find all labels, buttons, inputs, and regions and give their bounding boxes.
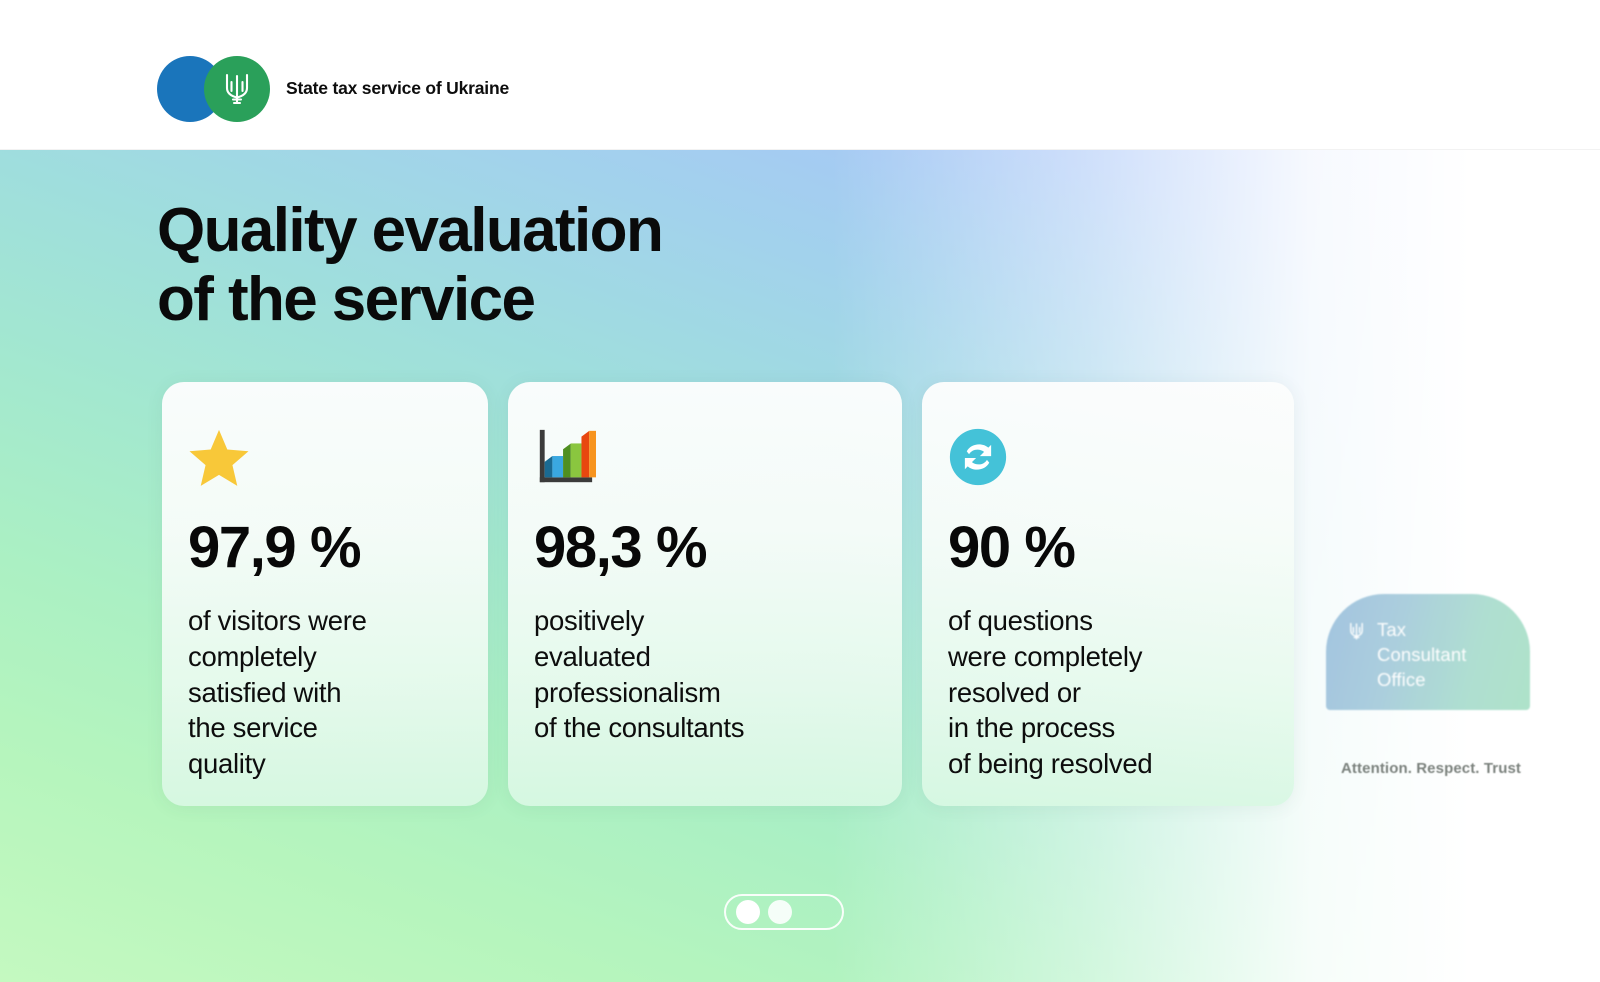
- pager-dot-1[interactable]: [736, 900, 760, 924]
- logo-green-circle-icon: [204, 56, 270, 122]
- stat-description: positively evaluated professionalism of …: [534, 603, 877, 746]
- stat-card-satisfaction[interactable]: 97,9 % of visitors were completely satis…: [162, 382, 488, 806]
- star-icon: [188, 428, 250, 487]
- pager-dot-2[interactable]: [768, 900, 792, 924]
- logo-text: State tax service of Ukraine: [286, 77, 509, 100]
- logo-marks: [157, 56, 270, 122]
- stat-value: 98,3 %: [534, 519, 877, 577]
- slide-root: State tax service of Ukraine Quality eva…: [0, 0, 1600, 982]
- stat-value: 90 %: [948, 519, 1269, 577]
- card-icon-slot: [188, 429, 463, 485]
- carousel-pager[interactable]: [724, 894, 844, 930]
- page-title: Quality evaluation of the service: [157, 196, 662, 335]
- stat-card-professionalism[interactable]: 98,3 % positively evaluated professional…: [508, 382, 902, 806]
- refresh-cycle-icon: [948, 427, 1008, 487]
- stat-description: of visitors were completely satisfied wi…: [188, 603, 463, 782]
- header-bar: State tax service of Ukraine: [0, 0, 1600, 150]
- stat-description: of questions were completely resolved or…: [948, 603, 1269, 782]
- stats-card-row: 97,9 % of visitors were completely satis…: [162, 382, 1294, 806]
- badge-text: Tax Consultant Office: [1377, 618, 1466, 693]
- stat-card-resolution[interactable]: 90 % of questions were completely resolv…: [922, 382, 1294, 806]
- ukraine-trident-icon: [222, 71, 252, 107]
- card-icon-slot: [534, 429, 877, 485]
- brand-logo[interactable]: State tax service of Ukraine: [157, 56, 509, 122]
- bar-chart-icon: [534, 426, 596, 488]
- ukraine-trident-icon: [1348, 621, 1365, 642]
- tax-consultant-office-badge: Tax Consultant Office: [1326, 594, 1530, 710]
- card-icon-slot: [948, 429, 1269, 485]
- tagline: Attention. Respect. Trust: [1341, 760, 1521, 777]
- stat-value: 97,9 %: [188, 519, 463, 577]
